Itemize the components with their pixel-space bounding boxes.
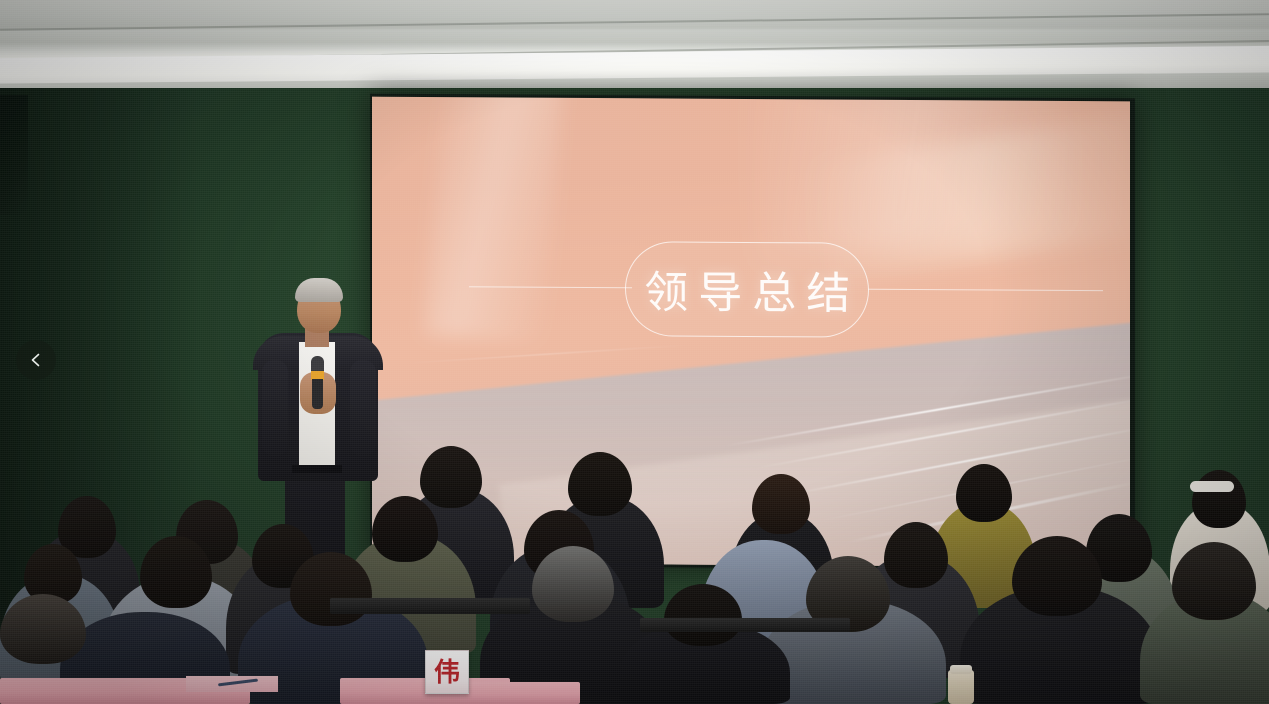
chevron-left-icon — [28, 352, 44, 368]
conference-room-photo: 领导总结 — [0, 0, 1269, 704]
name-placard: 伟 — [425, 650, 469, 694]
wall-corner-shadow — [0, 95, 28, 215]
slide-title-pill: 领导总结 — [625, 241, 869, 338]
desk-mid — [640, 618, 850, 632]
photo-viewer: 领导总结 — [0, 0, 1269, 704]
desk-back — [330, 598, 530, 614]
audience: 伟 — [0, 434, 1269, 704]
previous-photo-button[interactable] — [16, 340, 56, 380]
name-placard-text: 伟 — [434, 659, 460, 685]
slide-title-text: 领导总结 — [634, 257, 860, 322]
screen-light-haze — [424, 97, 563, 344]
slide-rule-right — [868, 288, 1103, 291]
slide-rule-left — [469, 286, 632, 288]
slide-streak — [403, 345, 690, 364]
desk-front-right — [460, 682, 580, 704]
